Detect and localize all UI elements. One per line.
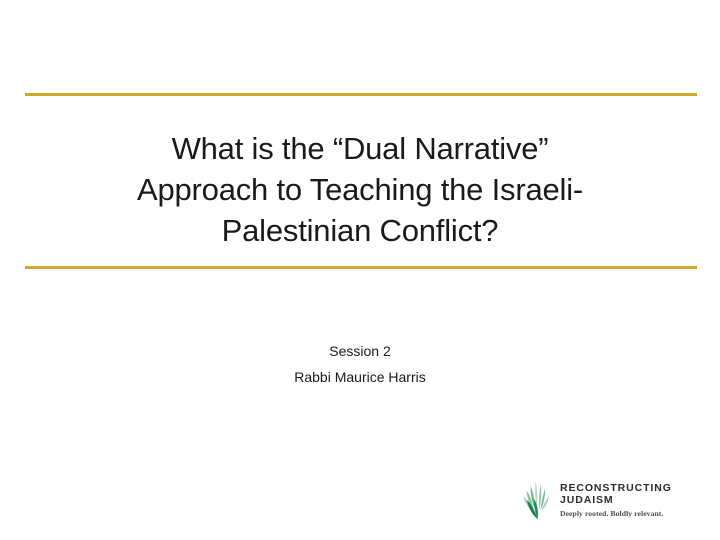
organization-logo: RECONSTRUCTING JUDAISM Deeply rooted. Bo… xyxy=(521,478,667,524)
subtitle-session: Session 2 xyxy=(60,338,660,364)
wheat-sheaf-icon xyxy=(521,478,555,520)
top-gold-divider xyxy=(25,93,697,96)
title-line-2: Approach to Teaching the Israeli- xyxy=(60,169,660,210)
presentation-slide: What is the “Dual Narrative” Approach to… xyxy=(0,0,720,540)
subtitle-presenter: Rabbi Maurice Harris xyxy=(60,364,660,390)
logo-word-line-2: JUDAISM xyxy=(560,495,672,507)
title-line-3: Palestinian Conflict? xyxy=(60,210,660,251)
bottom-gold-divider xyxy=(25,266,697,269)
page-title: What is the “Dual Narrative” Approach to… xyxy=(60,128,660,251)
title-line-1: What is the “Dual Narrative” xyxy=(60,128,660,169)
logo-wordmark: RECONSTRUCTING JUDAISM Deeply rooted. Bo… xyxy=(560,478,672,519)
logo-tagline: Deeply rooted. Boldly relevant. xyxy=(560,508,672,519)
subtitle: Session 2 Rabbi Maurice Harris xyxy=(60,338,660,390)
logo-word-line-1: RECONSTRUCTING xyxy=(560,483,672,495)
